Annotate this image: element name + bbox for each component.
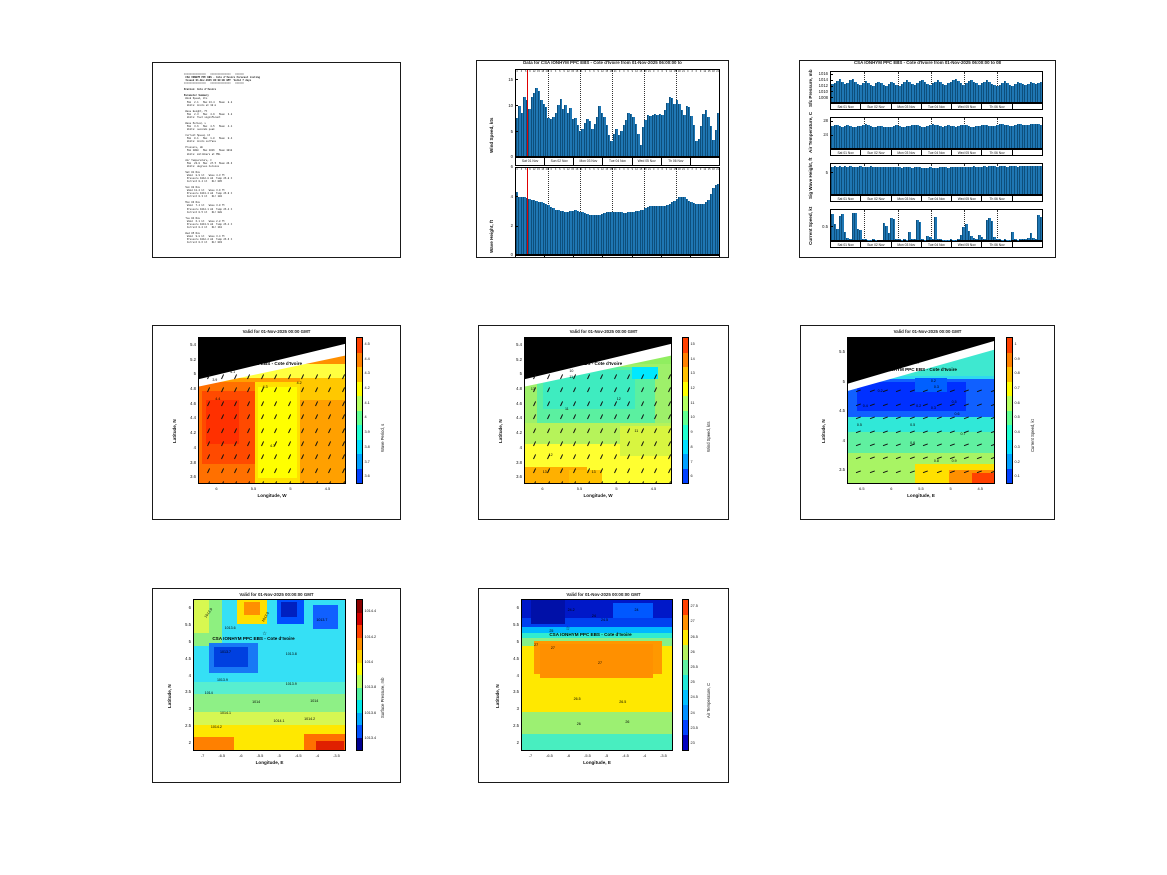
colorbar-band bbox=[357, 638, 362, 651]
plot-area-air-temperature bbox=[830, 117, 1043, 149]
y-tick-label: 3 bbox=[176, 706, 191, 711]
listing-line: Current 0.6 kt Dir 093 bbox=[181, 241, 394, 244]
vector-barb bbox=[937, 483, 942, 484]
y-tick-mark bbox=[830, 172, 833, 173]
contour-label: 24 bbox=[592, 614, 596, 618]
colorbar-band bbox=[357, 440, 362, 455]
contour-label: 1013.9 bbox=[217, 678, 228, 682]
day-label bbox=[1013, 150, 1043, 155]
colorbar-tick-label: 25 bbox=[691, 680, 695, 684]
chart-title-wind-speed-map: Valid for 01-Nov-2025 00:00 GMT bbox=[479, 329, 728, 334]
y-tick-label: 4.4 bbox=[181, 415, 196, 420]
colorbar-tick-label: 7 bbox=[691, 460, 693, 464]
contour-label: 10 bbox=[569, 369, 573, 373]
colorbar-tick-label: 10 bbox=[691, 415, 695, 419]
colorbar-band bbox=[1007, 367, 1012, 382]
contour-label: 0.2 bbox=[931, 379, 936, 383]
map-overlay-label: CSA IONHYM PPC EBS - Cote d'Ivoire bbox=[875, 367, 957, 372]
colorbar-band bbox=[1007, 440, 1012, 455]
colorbar-band bbox=[357, 663, 362, 676]
x-tick-label: 6.5 bbox=[850, 486, 874, 491]
day-label: Tue 04 Nov bbox=[603, 256, 632, 258]
colorbar-band bbox=[357, 738, 362, 751]
y-tick-label: 4 bbox=[495, 194, 513, 199]
contour-label: 1013.9 bbox=[286, 682, 297, 686]
plot-area-significant-wave-height-ts bbox=[830, 163, 1043, 195]
day-label bbox=[1013, 242, 1043, 247]
y-axis-label-pressure: Sfc Pressure, mb bbox=[808, 69, 813, 107]
vector-barb bbox=[991, 483, 995, 484]
colorbar-band bbox=[357, 688, 362, 701]
chart-title-wave-period-map: Valid for 01-Nov-2025 00:00 GMT bbox=[153, 329, 400, 334]
y-tick-mark bbox=[515, 226, 518, 227]
colorbar-tick-label: 12 bbox=[691, 386, 695, 390]
y-tick-mark bbox=[830, 226, 833, 227]
colorbar-tick-label: 23.5 bbox=[691, 726, 698, 730]
day-label: Mon 03 Nov bbox=[892, 196, 922, 201]
colorbar-tick-label: 11 bbox=[691, 401, 695, 405]
colorbar-band bbox=[683, 382, 688, 397]
colorbar-band bbox=[683, 353, 688, 368]
colorbar-band bbox=[357, 675, 362, 688]
colorbar-tick-label: 0.4 bbox=[1015, 430, 1020, 434]
contour-band bbox=[281, 602, 296, 617]
y-tick-label: 2 bbox=[176, 740, 191, 745]
contour-label: 4.2 bbox=[297, 381, 302, 385]
surface-pressure-map-panel: Valid for 01-Nov-2025 00:00:00 GMT1013.6… bbox=[152, 588, 401, 783]
day-label: Mon 03 Nov bbox=[892, 104, 922, 109]
wind-wave-timeseries-panel: Data for CSA IONHYM PPC EBS - Cote d'Ivo… bbox=[476, 60, 729, 258]
x-tick-label: -3.5 bbox=[324, 753, 348, 758]
colorbar-tick-label: 1014 bbox=[365, 660, 373, 664]
colorbar-tick-label: 0.5 bbox=[1015, 415, 1020, 419]
vector-barb bbox=[883, 483, 888, 484]
air-temperature-map-panel: Valid for 01-Nov-2025 00:00:00 GMT24.224… bbox=[478, 588, 729, 783]
y-tick-label: 5.2 bbox=[181, 357, 196, 362]
contour-label: 1014 bbox=[205, 691, 213, 695]
y-tick-label: 3 bbox=[504, 706, 519, 711]
y-tick-label: 2.5 bbox=[504, 723, 519, 728]
y-tick-mark bbox=[830, 135, 833, 136]
colorbar-tick-label: 0.8 bbox=[1015, 371, 1020, 375]
colorbar-band bbox=[1007, 454, 1012, 469]
y-tick-mark bbox=[515, 105, 518, 106]
colorbar-tick-label: 0.9 bbox=[1015, 357, 1020, 361]
colorbar-tick-label: 14 bbox=[691, 357, 695, 361]
y-tick-label: 3.8 bbox=[507, 460, 522, 465]
y-tick-mark bbox=[515, 131, 518, 132]
colorbar-band bbox=[683, 720, 688, 735]
day-label: Th 06 Nov bbox=[982, 242, 1012, 247]
vector-barb bbox=[991, 403, 995, 405]
hour-tick: 21 bbox=[715, 70, 719, 73]
day-label: Sun 02 Nov bbox=[545, 256, 574, 258]
hour-tick-row: 0369121518210369121518210369121518210369… bbox=[515, 168, 720, 171]
day-axis-strip: Sat 01 NovSun 02 NovMon 03 NovTue 04 Nov… bbox=[830, 103, 1043, 110]
map-plot-wind-speed-map: 9101111121313121117☆CSA IONHYM PPC EBS -… bbox=[524, 337, 672, 484]
colorbar-band bbox=[357, 625, 362, 638]
contour-band bbox=[316, 741, 344, 751]
contour-label: 26 bbox=[625, 720, 629, 724]
colorbar-axis-label: Current Speed, kt bbox=[1030, 419, 1035, 452]
plot-area-current-speed-ts bbox=[830, 209, 1043, 241]
bar bbox=[934, 217, 937, 240]
contour-label: 1014 bbox=[252, 700, 260, 704]
y-axis-label-significant-wave-height-ts: Sig Wave Height, ft bbox=[808, 158, 813, 199]
vector-barb bbox=[897, 483, 902, 484]
contour-label: 27 bbox=[551, 646, 555, 650]
contour-label: 4.4 bbox=[215, 397, 220, 401]
day-label: Wed 05 Nov bbox=[952, 242, 982, 247]
colorbar-tick-label: 4.2 bbox=[365, 386, 370, 390]
contour-label: 1013.7 bbox=[316, 618, 327, 622]
y-tick-label: 5.2 bbox=[507, 357, 522, 362]
contour-label: 1013.7 bbox=[220, 650, 231, 654]
bar-series-significant-wave-height-ts bbox=[831, 164, 1042, 194]
y-axis-label-wind-speed: Wind Speed, kts bbox=[489, 118, 494, 153]
colorbar-tick-label: 1 bbox=[1015, 342, 1017, 346]
chart-title-air-temperature-map: Valid for 01-Nov-2025 00:00:00 GMT bbox=[479, 592, 728, 597]
colorbar-current-speed-map bbox=[1006, 337, 1013, 484]
day-label: Th 06 Nov bbox=[662, 158, 691, 165]
y-tick-label: 5 bbox=[830, 379, 845, 384]
colorbar-band bbox=[357, 411, 362, 426]
y-axis-label-current-speed-ts: Current Speed, kt bbox=[808, 207, 813, 245]
contour-label: 0.3 bbox=[934, 385, 939, 389]
colorbar-surface-pressure-map bbox=[356, 599, 363, 751]
y-tick-label: 4.5 bbox=[504, 656, 519, 661]
colorbar-tick-label: 3.8 bbox=[365, 445, 370, 449]
day-label: Sun 02 Nov bbox=[861, 196, 891, 201]
chart-title-surface-pressure-map: Valid for 01-Nov-2025 00:00:00 GMT bbox=[153, 592, 400, 597]
plot-area-pressure bbox=[830, 71, 1043, 103]
day-label: Sat 01 Nov bbox=[830, 104, 861, 109]
colorbar-band bbox=[683, 660, 688, 675]
contour-label: 26.5 bbox=[619, 700, 626, 704]
day-label: Th 06 Nov bbox=[982, 104, 1012, 109]
day-label: Sat 01 Nov bbox=[830, 196, 861, 201]
x-tick-label: 4.5 bbox=[316, 486, 340, 491]
hour-tick-row: 0369121518210369121518210369121518210369… bbox=[515, 70, 720, 73]
day-label: Sun 02 Nov bbox=[861, 104, 891, 109]
bar bbox=[717, 113, 719, 157]
y-tick-label: 5.5 bbox=[830, 349, 845, 354]
contour-label: 1013.6 bbox=[225, 626, 236, 630]
vector-barb bbox=[991, 443, 995, 445]
contour-band bbox=[857, 382, 967, 411]
y-tick-mark bbox=[830, 91, 833, 92]
map-plot-air-temperature-map: 24.2242424.52527272726.526.52626☆CSA ION… bbox=[521, 599, 673, 751]
bar bbox=[1040, 82, 1043, 102]
contour-label: 0.3 bbox=[931, 406, 936, 410]
x-tick-label: 6 bbox=[531, 486, 555, 491]
bar bbox=[1040, 217, 1043, 240]
colorbar-axis-label: Surface Pressure, mb bbox=[380, 677, 385, 718]
map-plot-wave-period-map: 4.13.94.44.34.24.3☆CSA IONHYM PPC EBS - … bbox=[198, 337, 346, 484]
bar-series-wind-speed bbox=[516, 70, 719, 156]
colorbar-band bbox=[357, 600, 362, 613]
contour-label: 27 bbox=[598, 661, 602, 665]
colorbar-band bbox=[683, 690, 688, 705]
day-label: Th 06 Nov bbox=[982, 150, 1012, 155]
contour-band bbox=[313, 605, 337, 629]
x-tick-label: 5 bbox=[279, 486, 303, 491]
colorbar-band bbox=[683, 338, 688, 353]
colorbar-band bbox=[683, 425, 688, 440]
contour-band bbox=[613, 603, 653, 618]
day-label bbox=[691, 256, 720, 258]
colorbar-band bbox=[683, 600, 688, 615]
y-tick-label: 4.8 bbox=[507, 386, 522, 391]
contour-label: 1014 bbox=[310, 699, 318, 703]
day-label: Th 06 Nov bbox=[982, 196, 1012, 201]
contour-label: 12 bbox=[617, 397, 621, 401]
contour-label: 1014.2 bbox=[211, 725, 222, 729]
colorbar-wind-speed-map bbox=[682, 337, 689, 484]
contour-label: 1014.1 bbox=[274, 719, 285, 723]
colorbar-tick-label: 3.6 bbox=[365, 474, 370, 478]
day-label bbox=[1013, 104, 1043, 109]
bar bbox=[919, 222, 922, 240]
day-label: Sun 02 Nov bbox=[861, 150, 891, 155]
colorbar-band bbox=[357, 713, 362, 726]
report-page: =============== ============== ====== CS… bbox=[0, 0, 1167, 875]
contour-label: 24.2 bbox=[568, 608, 575, 612]
day-label: Wed 05 Nov bbox=[952, 196, 982, 201]
contour-label: 13 bbox=[592, 470, 596, 474]
bar-series-wave-height bbox=[516, 168, 719, 254]
now-marker bbox=[527, 168, 528, 254]
contour-band bbox=[258, 387, 296, 478]
y-tick-label: 5 bbox=[507, 371, 522, 376]
plot-area-wave-height bbox=[515, 167, 720, 255]
colorbar-tick-label: 26.5 bbox=[691, 635, 698, 639]
colorbar-tick-label: 27 bbox=[691, 619, 695, 623]
hour-tick: 21 bbox=[715, 168, 719, 171]
y-tick-label: 0 bbox=[495, 154, 513, 159]
colorbar-band bbox=[1007, 469, 1012, 484]
day-label: Sat 01 Nov bbox=[830, 242, 861, 247]
day-label: Tue 04 Nov bbox=[922, 104, 952, 109]
colorbar-band bbox=[1007, 353, 1012, 368]
colorbar-tick-label: 23 bbox=[691, 741, 695, 745]
colorbar-band bbox=[357, 353, 362, 368]
x-tick-label: -3.5 bbox=[652, 753, 676, 758]
colorbar-band bbox=[357, 367, 362, 382]
bar bbox=[1040, 166, 1043, 194]
y-axis-label-air-temperature-map: Latitude, N bbox=[495, 685, 500, 709]
contour-label: 27 bbox=[534, 643, 538, 647]
y-tick-label: 3.5 bbox=[830, 467, 845, 472]
colorbar-tick-label: 4.3 bbox=[365, 371, 370, 375]
y-tick-mark bbox=[830, 86, 833, 87]
x-axis-label-wave-period-map: Longitude, W bbox=[198, 493, 346, 498]
colorbar-tick-label: 26 bbox=[691, 650, 695, 654]
day-label: Wed 05 Nov bbox=[633, 256, 662, 258]
bar bbox=[893, 219, 896, 240]
contour-label: 3.9 bbox=[212, 378, 217, 382]
colorbar-tick-label: 4.4 bbox=[365, 357, 370, 361]
day-label: Wed 05 Nov bbox=[952, 150, 982, 155]
colorbar-band bbox=[357, 454, 362, 469]
colorbar-band bbox=[357, 396, 362, 411]
y-tick-label: 5.4 bbox=[507, 342, 522, 347]
colorbar-band bbox=[683, 630, 688, 645]
colorbar-tick-label: 6 bbox=[691, 474, 693, 478]
colorbar-band bbox=[683, 645, 688, 660]
colorbar-tick-label: 25.5 bbox=[691, 665, 698, 669]
map-overlay-label: CSA IONHYM PPC EBS - Cote d'Ivoire bbox=[220, 361, 302, 366]
colorbar-band bbox=[1007, 382, 1012, 397]
contour-band bbox=[244, 602, 259, 616]
day-label: Tue 04 Nov bbox=[603, 158, 632, 165]
contour-band bbox=[194, 737, 234, 751]
y-tick-mark bbox=[515, 79, 518, 80]
chart-title-metocean: CSA IONHYM PPC EBS - Cote d'Ivoire from … bbox=[800, 60, 1055, 65]
colorbar-tick-label: 13 bbox=[691, 371, 695, 375]
y-axis-label-wind-speed-map: Latitude, N bbox=[498, 419, 503, 443]
day-axis-strip: Sat 01 NovSun 02 NovMon 03 NovTue 04 Nov… bbox=[830, 241, 1043, 248]
contour-label: 11 bbox=[565, 407, 569, 411]
colorbar-tick-label: 0.3 bbox=[1015, 445, 1020, 449]
contour-label: 24.5 bbox=[601, 618, 608, 622]
station-marker: ☆ bbox=[916, 361, 920, 366]
contour-label: 26 bbox=[577, 722, 581, 726]
y-tick-label: 4.5 bbox=[176, 656, 191, 661]
y-tick-label: 2 bbox=[504, 740, 519, 745]
day-label bbox=[691, 158, 720, 165]
day-label: Sun 02 Nov bbox=[861, 242, 891, 247]
map-plot-surface-pressure-map: 1013.61013.71013.81013.91013.91014101410… bbox=[193, 599, 346, 751]
chart-title-windwave: Data for CSA IONHYM PPC EBS - Cote d'Ivo… bbox=[477, 60, 728, 65]
contour-label: 11 bbox=[635, 429, 639, 433]
y-tick-label: 4.5 bbox=[830, 408, 845, 413]
chart-title-current-speed-map: Valid for 01-Nov-2025 00:00 GMT bbox=[801, 329, 1054, 334]
y-tick-label: 3.5 bbox=[176, 689, 191, 694]
colorbar-band bbox=[683, 615, 688, 630]
x-tick-label: 4.5 bbox=[968, 486, 992, 491]
colorbar-band bbox=[683, 440, 688, 455]
colorbar-band bbox=[357, 650, 362, 663]
wave-period-map-panel: Valid for 01-Nov-2025 00:00 GMT4.13.94.4… bbox=[152, 325, 401, 520]
y-tick-mark bbox=[515, 196, 518, 197]
day-label: Wed 05 Nov bbox=[633, 158, 662, 165]
y-tick-label: 2 bbox=[495, 223, 513, 228]
x-axis-label-air-temperature-map: Longitude, E bbox=[521, 760, 673, 765]
colorbar-tick-label: 1014.2 bbox=[365, 635, 377, 639]
y-tick-mark bbox=[830, 74, 833, 75]
colorbar-band bbox=[357, 469, 362, 484]
contour-label: 0.9 bbox=[952, 459, 957, 463]
y-tick-label: 4 bbox=[176, 673, 191, 678]
y-tick-label: 3.6 bbox=[507, 474, 522, 479]
colorbar-band bbox=[683, 675, 688, 690]
day-label: Mon 03 Nov bbox=[892, 150, 922, 155]
plot-area-wind-speed bbox=[515, 69, 720, 157]
x-tick-label: 6 bbox=[879, 486, 903, 491]
colorbar-band bbox=[357, 613, 362, 626]
colorbar-band bbox=[683, 705, 688, 720]
colorbar-tick-label: 3.7 bbox=[365, 460, 370, 464]
day-label: Sat 01 Nov bbox=[830, 150, 861, 155]
y-tick-label: 4 bbox=[504, 673, 519, 678]
contour-label: 0.2 bbox=[916, 404, 921, 408]
map-overlay-label: CSA IONHYM PPC EBS - Cote d'Ivoire bbox=[549, 632, 631, 637]
vector-barb bbox=[977, 483, 982, 484]
x-tick-label: 5.5 bbox=[909, 486, 933, 491]
contour-label: 9 bbox=[537, 366, 539, 370]
contour-band bbox=[531, 600, 564, 624]
day-label: Mon 03 Nov bbox=[892, 242, 922, 247]
y-tick-label: 4.2 bbox=[507, 430, 522, 435]
colorbar-band bbox=[683, 367, 688, 382]
contour-label: 26.5 bbox=[574, 697, 581, 701]
y-tick-label: 6 bbox=[495, 164, 513, 169]
colorbar-tick-label: 15 bbox=[691, 342, 695, 346]
colorbar-band bbox=[1007, 425, 1012, 440]
colorbar-tick-label: 0.2 bbox=[1015, 460, 1020, 464]
y-tick-label: 5.5 bbox=[504, 622, 519, 627]
colorbar-band bbox=[683, 454, 688, 469]
contour-label: 1014.1 bbox=[220, 711, 231, 715]
y-tick-label: 10 bbox=[495, 103, 513, 108]
colorbar-band bbox=[1007, 411, 1012, 426]
contour-band bbox=[540, 644, 652, 677]
metocean-timeseries-panel: CSA IONHYM PPC EBS - Cote d'Ivoire from … bbox=[799, 60, 1056, 258]
colorbar-band bbox=[683, 735, 688, 750]
vector-barb bbox=[964, 483, 969, 484]
day-label: Sat 01 Nov bbox=[515, 158, 545, 165]
y-tick-label: 5 bbox=[181, 371, 196, 376]
day-axis-strip: Sat 01 NovSun 02 NovMon 03 NovTue 04 Nov… bbox=[830, 149, 1043, 156]
contour-label: 0.8 bbox=[934, 459, 939, 463]
day-label bbox=[1013, 196, 1043, 201]
colorbar-band bbox=[683, 411, 688, 426]
colorbar-band bbox=[357, 382, 362, 397]
y-tick-mark bbox=[830, 97, 833, 98]
y-tick-label: 0 bbox=[495, 252, 513, 257]
y-tick-label: 3.5 bbox=[504, 689, 519, 694]
y-tick-label: 2.5 bbox=[176, 723, 191, 728]
colorbar-tick-label: 1013.4 bbox=[365, 736, 377, 740]
vector-barb bbox=[870, 483, 875, 484]
y-tick-label: 5 bbox=[504, 639, 519, 644]
contour-label: 0.6 bbox=[955, 412, 960, 416]
colorbar-axis-label: Air Temperature, C bbox=[706, 682, 711, 717]
colorbar-tick-label: 3.9 bbox=[365, 430, 370, 434]
bar-series-current-speed-ts bbox=[831, 210, 1042, 240]
contour-label: 24 bbox=[634, 608, 638, 612]
colorbar-band bbox=[1007, 396, 1012, 411]
colorbar-tick-label: 1013.6 bbox=[365, 711, 377, 715]
colorbar-band bbox=[683, 469, 688, 484]
colorbar-band bbox=[1007, 338, 1012, 353]
contour-band bbox=[972, 473, 995, 484]
y-tick-label: 3.6 bbox=[181, 474, 196, 479]
x-tick-label: 5 bbox=[939, 486, 963, 491]
y-tick-mark bbox=[830, 80, 833, 81]
day-label: Wed 05 Nov bbox=[952, 104, 982, 109]
contour-label: 0.5 bbox=[910, 423, 915, 427]
y-tick-label: 15 bbox=[495, 77, 513, 82]
y-tick-label: 4 bbox=[830, 438, 845, 443]
y-tick-label: 4.2 bbox=[181, 430, 196, 435]
y-tick-label: 5 bbox=[176, 639, 191, 644]
colorbar-axis-label: Wave Period, s bbox=[380, 423, 385, 451]
x-tick-label: 5.5 bbox=[568, 486, 592, 491]
now-marker bbox=[527, 70, 528, 156]
colorbar-wave-period-map bbox=[356, 337, 363, 484]
